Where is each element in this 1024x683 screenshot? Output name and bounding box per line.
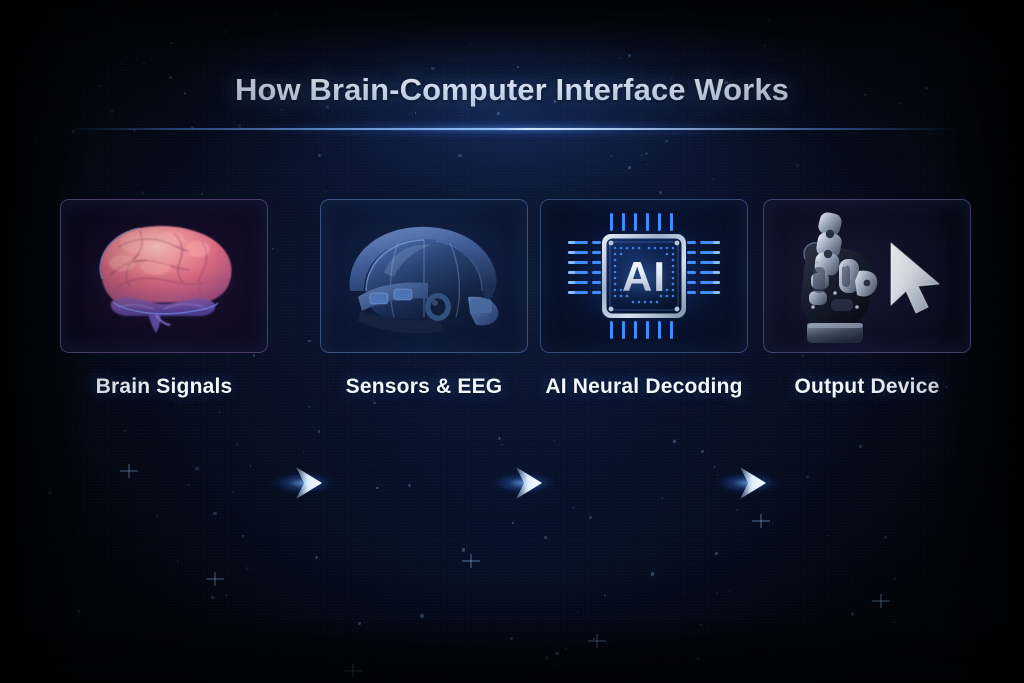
star-glint bbox=[760, 520, 761, 521]
infographic-canvas: How Brain-Computer Interface Works bbox=[0, 0, 1024, 683]
panel-sensors-eeg bbox=[320, 199, 528, 353]
mouse-cursor-icon bbox=[879, 239, 957, 321]
star-glint bbox=[214, 578, 215, 579]
arrow-right-icon bbox=[492, 461, 546, 505]
chip-ai-label: AI bbox=[554, 253, 734, 301]
arrow-right-icon bbox=[716, 461, 770, 505]
eeg-headset-icon bbox=[332, 213, 516, 341]
panel-output-device bbox=[763, 199, 971, 353]
star-glint bbox=[596, 640, 597, 641]
star-glint bbox=[880, 600, 881, 601]
star-glint bbox=[128, 470, 129, 471]
panel-brain-signals bbox=[60, 199, 268, 353]
connector-arrow-3 bbox=[716, 461, 770, 505]
star-glint bbox=[470, 560, 471, 561]
title-divider bbox=[62, 128, 962, 130]
process-flow: Brain Signals bbox=[0, 199, 1024, 414]
step-label-sensors-eeg: Sensors & EEG bbox=[320, 375, 528, 399]
robotic-hand-icon bbox=[783, 207, 887, 347]
arrow-right-icon bbox=[272, 461, 326, 505]
flow-step-output-device[interactable]: Output Device bbox=[763, 199, 971, 399]
flow-step-sensors-eeg[interactable]: Sensors & EEG bbox=[320, 199, 528, 399]
page-title: How Brain-Computer Interface Works bbox=[235, 72, 789, 108]
flow-step-brain-signals[interactable]: Brain Signals bbox=[60, 199, 268, 399]
panel-ai-neural-decoding: AI bbox=[540, 199, 748, 353]
ai-chip-icon: AI bbox=[554, 207, 734, 345]
step-label-output-device: Output Device bbox=[763, 375, 971, 399]
step-label-brain-signals: Brain Signals bbox=[60, 375, 268, 399]
title-block: How Brain-Computer Interface Works bbox=[0, 72, 1024, 108]
brain-icon bbox=[78, 217, 250, 335]
connector-arrow-2 bbox=[492, 461, 546, 505]
connector-arrow-1 bbox=[272, 461, 326, 505]
flow-step-ai-neural-decoding[interactable]: AI AI Neural Decoding bbox=[540, 199, 748, 399]
step-label-ai-neural-decoding: AI Neural Decoding bbox=[540, 375, 748, 399]
star-glint bbox=[352, 670, 353, 671]
